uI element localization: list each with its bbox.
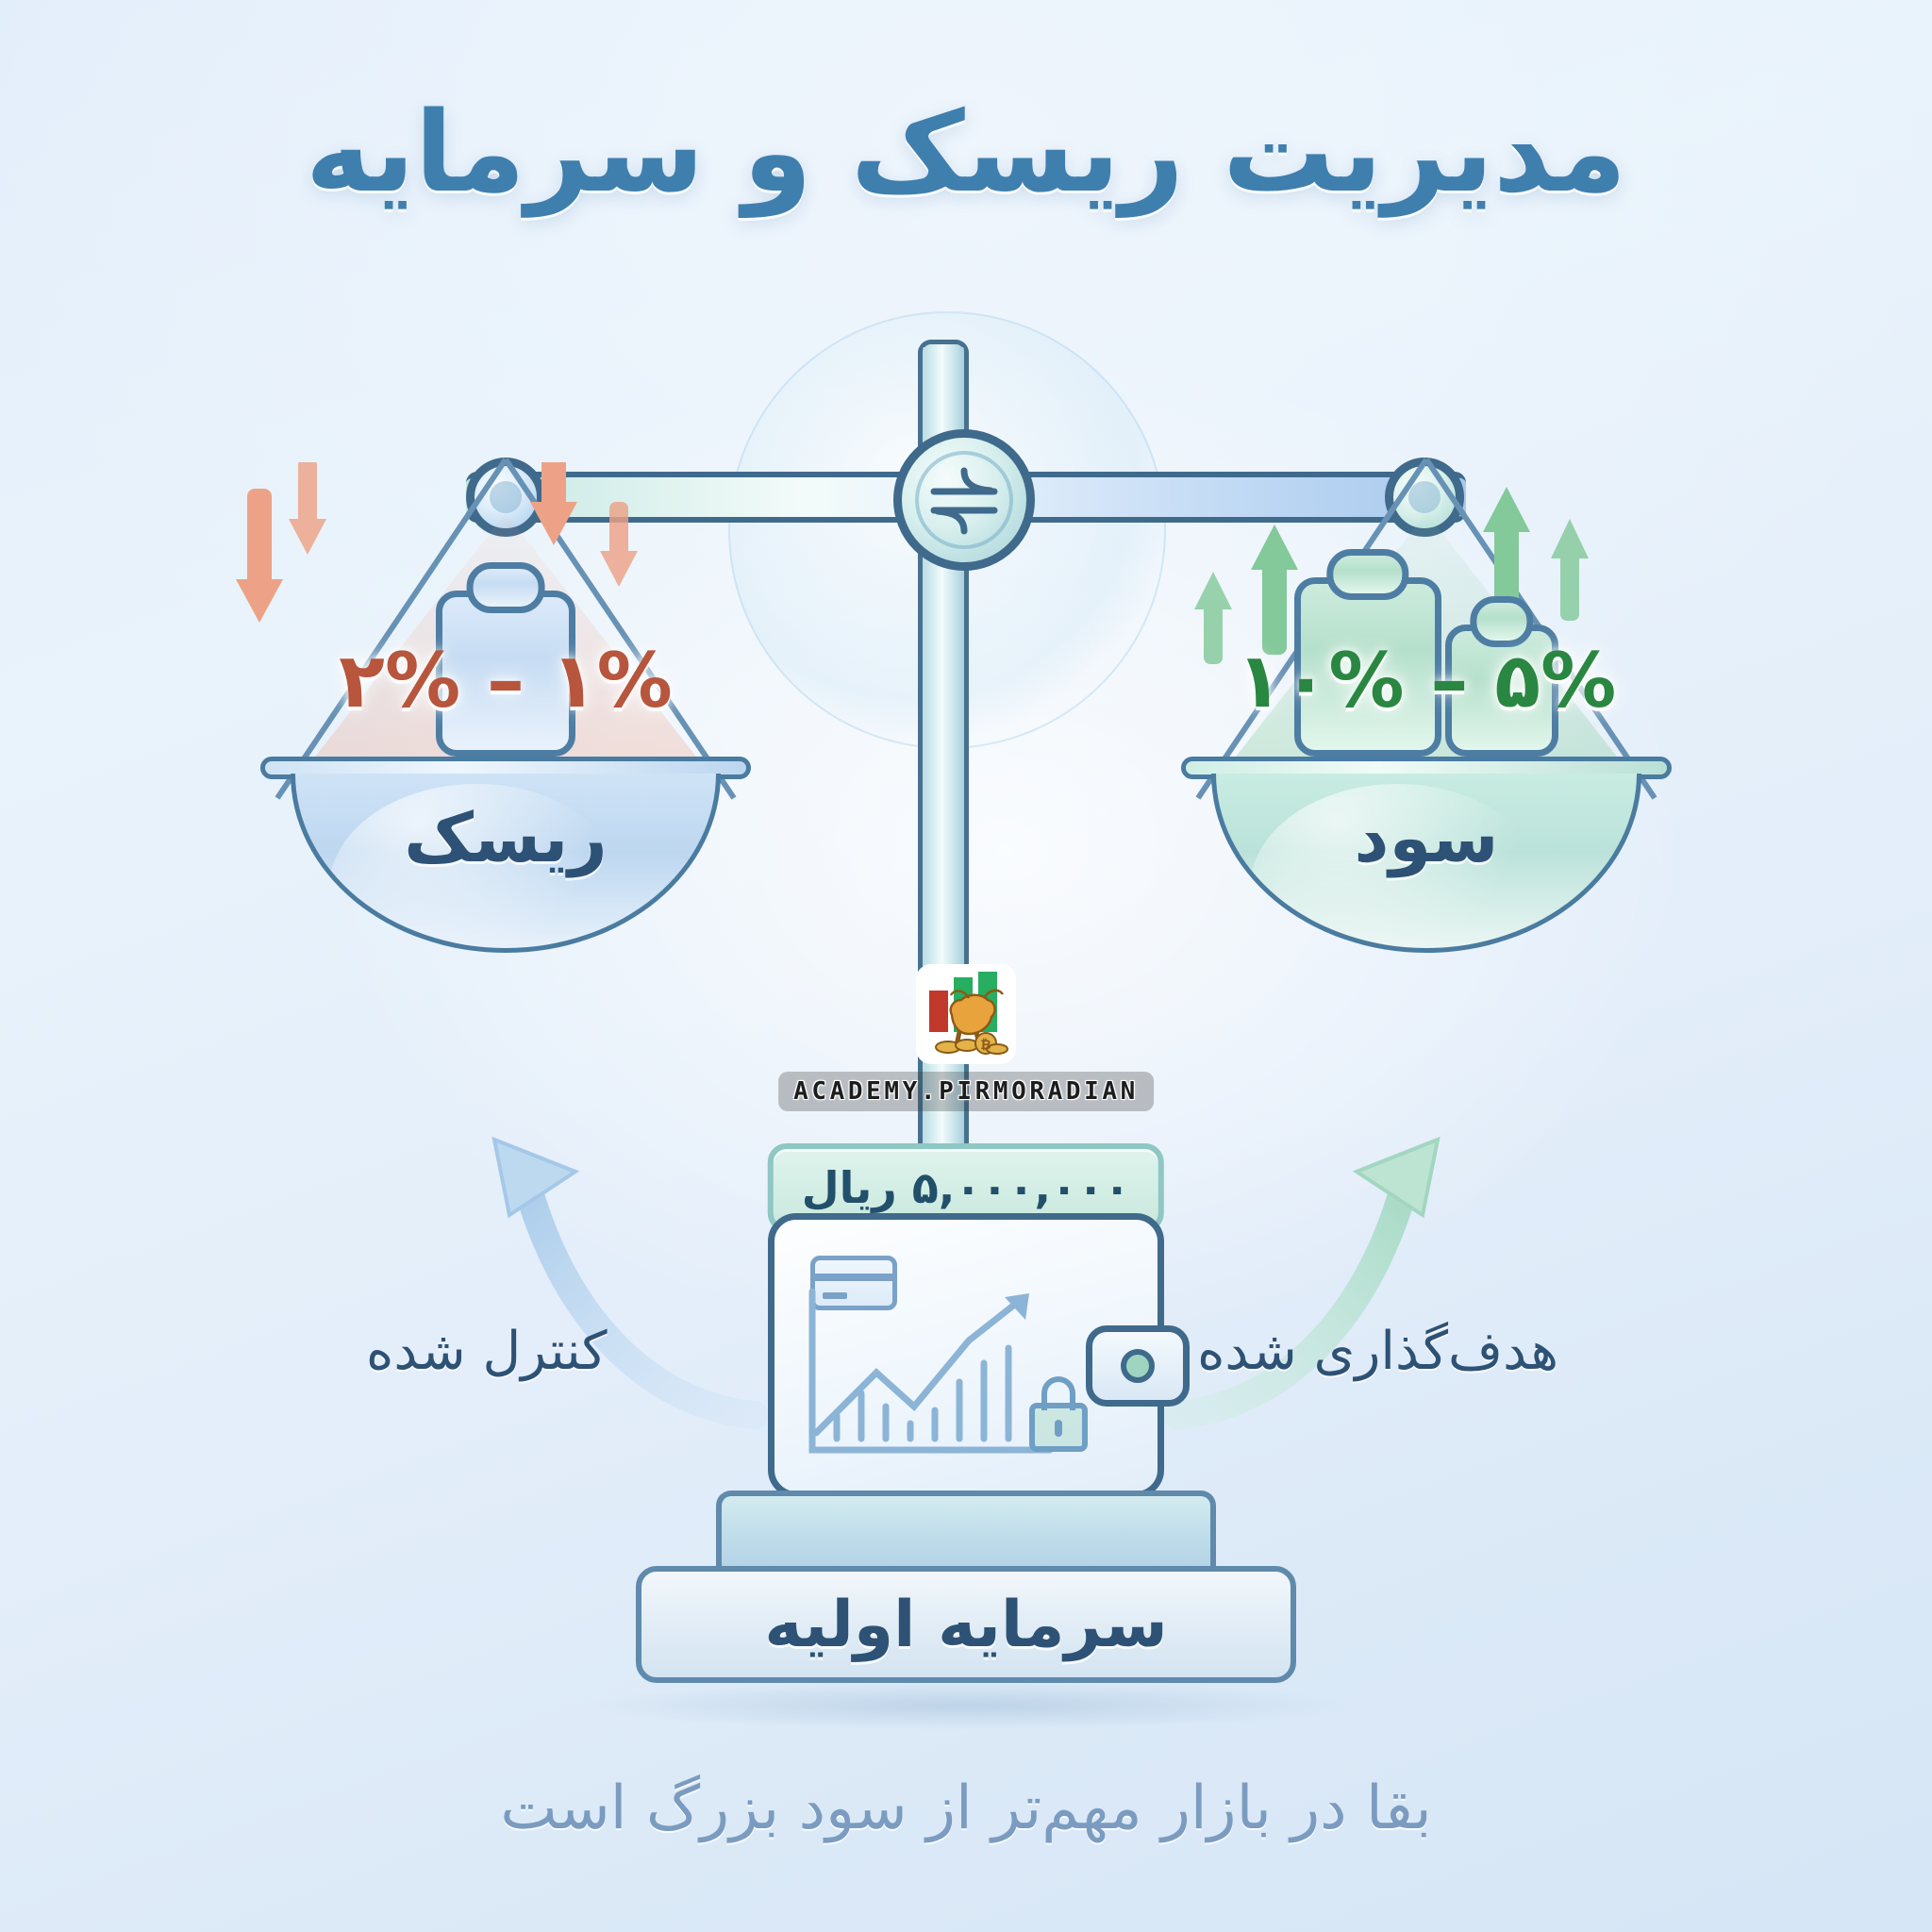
pan-group-profit: ۵% – ۱۰% سود xyxy=(1162,528,1690,1094)
weight-top-handle-icon xyxy=(467,562,545,613)
lock-icon xyxy=(1029,1403,1088,1452)
bull-candlestick-coins-logo: ₿ xyxy=(910,958,1022,1070)
base-plate: سرمایه اولیه xyxy=(636,1566,1296,1683)
pivot-inner-ring xyxy=(915,451,1013,549)
weight-top-handle-icon xyxy=(1326,549,1408,600)
base-label: سرمایه اولیه xyxy=(764,1588,1167,1662)
pan-group-risk: ۱% – ۲% ریسک xyxy=(241,528,770,1094)
scale-pivot xyxy=(893,429,1035,571)
exchange-balance-icon xyxy=(921,459,1008,541)
flow-caption-right: هدف‌گذاری شده xyxy=(1197,1321,1558,1382)
pan-label-profit: سود xyxy=(1355,798,1499,877)
pan-label-risk: ریسک xyxy=(404,798,607,877)
page-title: مدیریت ریسک و سرمایه xyxy=(0,87,1932,218)
flow-caption-left: کنترل شده xyxy=(366,1321,608,1382)
wallet xyxy=(768,1213,1164,1498)
infographic-canvas: مدیریت ریسک و سرمایه xyxy=(0,0,1932,1932)
watermark-brand: ACADEMY.PIRMORADIAN xyxy=(778,1072,1154,1111)
clasp-button-icon xyxy=(1086,1325,1190,1407)
risk-percent-range: ۱% – ۲% xyxy=(241,637,770,724)
base-shadow xyxy=(579,1681,1353,1730)
base-pedestal xyxy=(716,1491,1216,1570)
svg-text:₿: ₿ xyxy=(980,1038,991,1053)
footer-tagline: بقا در بازار مهم‌تر از سود بزرگ است xyxy=(0,1774,1932,1843)
profit-percent-range: ۵% – ۱۰% xyxy=(1162,637,1690,724)
